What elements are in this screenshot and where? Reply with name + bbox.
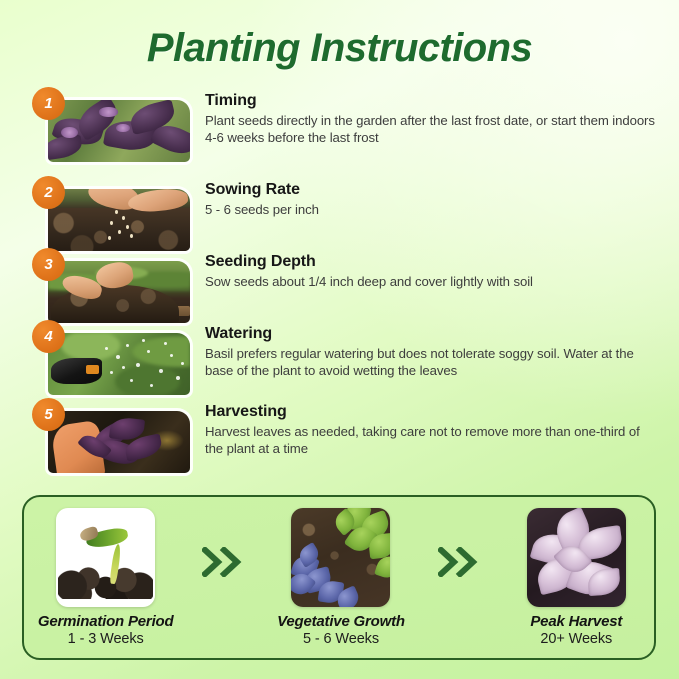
basil-seedlings-in-soil-photo — [291, 508, 390, 607]
step-heading: Timing — [205, 92, 655, 110]
step-thumbnail-wrap: 4 — [48, 333, 190, 395]
planting-instructions-poster: Planting Instructions — [0, 0, 679, 679]
hands-sowing-seeds-photo — [48, 189, 190, 251]
hand-holding-basil-sprig-photo — [48, 411, 190, 473]
step-body: Plant seeds directly in the garden after… — [205, 113, 655, 146]
step-body: 5 - 6 seeds per inch — [205, 202, 655, 219]
step-text-block: Sowing Rate 5 - 6 seeds per inch — [205, 181, 655, 219]
timeline-stage-duration: 20+ Weeks — [540, 631, 612, 647]
step-item: 1 Timing Plant seeds directly in the gar… — [0, 92, 679, 170]
purple-basil-plant-photo — [48, 100, 190, 162]
step-body: Sow seeds about 1/4 inch deep and cover … — [205, 274, 655, 291]
timeline-stage-label: Peak Harvest — [530, 613, 622, 630]
step-thumbnail-wrap: 3 — [48, 261, 190, 323]
page-title: Planting Instructions — [0, 26, 679, 71]
step-number-badge: 4 — [32, 320, 65, 353]
timeline-stage-duration: 5 - 6 Weeks — [303, 631, 379, 647]
step-number-badge: 3 — [32, 248, 65, 281]
step-thumbnail-wrap: 1 — [48, 100, 190, 162]
step-body: Basil prefers regular watering but does … — [205, 346, 655, 379]
timeline-stage-label: Vegetative Growth — [277, 613, 405, 630]
timeline-stage-label: Germination Period — [38, 613, 174, 630]
hose-nozzle-spraying-photo — [48, 333, 190, 395]
timeline-stage-duration: 1 - 3 Weeks — [68, 631, 144, 647]
timeline-stage: Germination Period 1 - 3 Weeks — [24, 497, 187, 647]
growth-timeline-row: Germination Period 1 - 3 Weeks — [24, 497, 658, 658]
step-heading: Sowing Rate — [205, 181, 655, 199]
sprouting-seed-photo — [56, 508, 155, 607]
step-number-badge: 2 — [32, 176, 65, 209]
timeline-stage: Peak Harvest 20+ Weeks — [495, 497, 658, 647]
step-item: 3 Seeding Depth Sow seeds about 1/4 inch… — [0, 253, 679, 325]
double-chevron-right-icon — [187, 497, 259, 577]
step-item: 5 Harvesting Harvest leaves as needed, t… — [0, 403, 679, 481]
step-body: Harvest leaves as needed, taking care no… — [205, 424, 655, 457]
step-heading: Watering — [205, 325, 655, 343]
step-thumbnail-wrap: 5 — [48, 411, 190, 473]
step-heading: Seeding Depth — [205, 253, 655, 271]
step-item: 4 Watering Basil prefers regular waterin… — [0, 325, 679, 403]
step-item: 2 Sowing Rate 5 - 6 seeds per inch — [0, 181, 679, 253]
step-number-badge: 5 — [32, 398, 65, 431]
double-chevron-right-icon — [423, 497, 495, 577]
step-text-block: Timing Plant seeds directly in the garde… — [205, 92, 655, 146]
growth-timeline-panel: Germination Period 1 - 3 Weeks — [22, 495, 656, 660]
step-number-badge: 1 — [32, 87, 65, 120]
step-text-block: Seeding Depth Sow seeds about 1/4 inch d… — [205, 253, 655, 291]
step-heading: Harvesting — [205, 403, 655, 421]
timeline-stage: Vegetative Growth 5 - 6 Weeks — [259, 497, 422, 647]
step-text-block: Harvesting Harvest leaves as needed, tak… — [205, 403, 655, 457]
step-thumbnail-wrap: 2 — [48, 189, 190, 251]
hands-patting-soil-photo — [48, 261, 190, 323]
step-text-block: Watering Basil prefers regular watering … — [205, 325, 655, 379]
mature-purple-basil-photo — [527, 508, 626, 607]
